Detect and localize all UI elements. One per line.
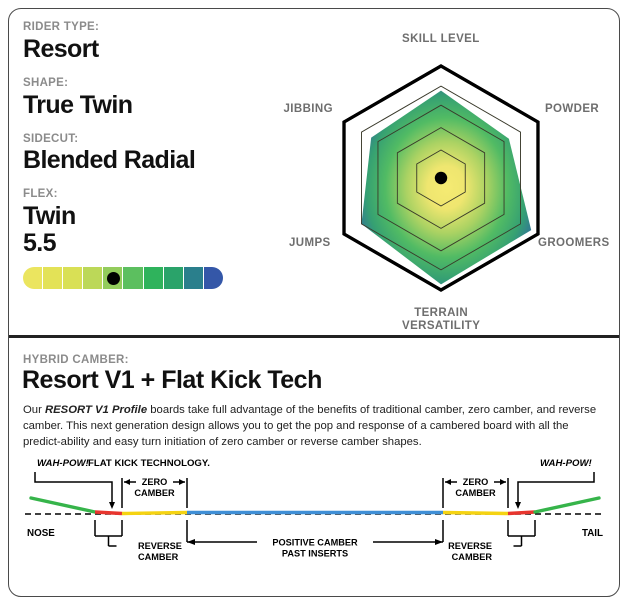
segment-reverse-camber-nose (95, 512, 122, 514)
radar-label-groomers: GROOMERS (538, 237, 610, 251)
positive-camber-arrow-right (435, 539, 443, 545)
reverse-camber-tail-label-line1: REVERSE (448, 541, 492, 551)
spec-shape: SHAPE: True Twin (23, 77, 273, 119)
flex-segment-10 (204, 267, 223, 289)
radar-label-skill-level: SKILL LEVEL (402, 33, 480, 47)
desc-emphasis: RESORT V1 Profile (45, 404, 147, 416)
radar-svg (281, 19, 611, 329)
radar-label-powder: POWDER (545, 103, 599, 117)
radar-data-polygon (361, 91, 531, 285)
spec-value-flex-rating: 5.5 (23, 230, 273, 257)
spec-value-flex-type: Twin (23, 203, 273, 230)
desc-pre: Our (23, 404, 45, 416)
spec-sidecut: SIDECUT: Blended Radial (23, 133, 273, 175)
flat-kick-technology-label: FLAT KICK TECHNOLOGY. (88, 458, 210, 469)
spec-label-rider-type: RIDER TYPE: (23, 21, 273, 35)
flex-marker-dot (107, 272, 120, 285)
wahpow-left-label: WAH-POW! (37, 458, 89, 469)
hybrid-camber-title: Resort V1 + Flat Kick Tech (22, 366, 322, 395)
positive-camber-label-line1: POSITIVE CAMBER (272, 538, 358, 548)
segment-zero-camber-nose (122, 513, 187, 514)
radar-label-jumps: JUMPS (289, 237, 331, 251)
segment-tail-kick (535, 498, 599, 512)
radar-center-dot (435, 172, 447, 184)
attribute-radar-chart: SKILL LEVELPOWDERGROOMERSTERRAINVERSATIL… (281, 19, 611, 329)
zero-camber-tail-arrow-right (500, 479, 506, 485)
zero-camber-tail-arrow-left (445, 479, 451, 485)
flex-segment-3 (63, 267, 83, 289)
flex-segment-7 (144, 267, 164, 289)
spec-flex: FLEX: Twin 5.5 (23, 188, 273, 289)
radar-label-jibbing: JIBBING (284, 103, 333, 117)
reverse-camber-tail-label-line2: CAMBER (452, 552, 493, 562)
hybrid-camber-description: Our RESORT V1 Profile boards take full a… (23, 402, 601, 450)
spec-value-shape: True Twin (23, 92, 273, 119)
reverse-camber-nose-label-line1: REVERSE (138, 541, 182, 551)
wahpow-left-arrowhead (109, 502, 115, 509)
spec-value-sidecut: Blended Radial (23, 147, 273, 174)
zero-camber-nose-arrow-right (179, 479, 185, 485)
segment-nose-kick (31, 498, 95, 512)
tail-label: TAIL (582, 528, 603, 539)
zero-camber-tail-label-line1: ZERO (463, 477, 489, 487)
spec-rider-type: RIDER TYPE: Resort (23, 21, 273, 63)
spec-label-shape: SHAPE: (23, 77, 273, 91)
wahpow-right-label: WAH-POW! (540, 458, 592, 469)
hybrid-camber-panel: HYBRID CAMBER: Resort V1 + Flat Kick Tec… (9, 338, 620, 597)
wahpow-left-leader (35, 472, 112, 502)
spec-value-rider-type: Resort (23, 36, 273, 63)
camber-profile-diagram: WAH-POW!FLAT KICK TECHNOLOGY.WAH-POW!ZER… (9, 456, 620, 586)
flex-rating-bar (23, 267, 223, 289)
flex-gradient-track (23, 267, 223, 289)
zero-camber-tail-label-line2: CAMBER (455, 488, 496, 498)
segment-zero-camber-tail (443, 513, 508, 514)
flex-segment-4 (83, 267, 103, 289)
spec-card: RIDER TYPE: Resort SHAPE: True Twin SIDE… (8, 8, 620, 597)
flex-segment-2 (43, 267, 63, 289)
zero-camber-nose-label-line1: ZERO (142, 477, 168, 487)
nose-label: NOSE (27, 528, 55, 539)
positive-camber-arrow-left (187, 539, 195, 545)
spec-label-flex: FLEX: (23, 188, 273, 202)
flex-segment-1 (23, 267, 43, 289)
zero-camber-nose-arrow-left (124, 479, 130, 485)
positive-camber-label-line2: PAST INSERTS (282, 549, 348, 559)
segment-reverse-camber-tail (508, 512, 535, 514)
flex-segment-9 (184, 267, 204, 289)
wahpow-right-leader (518, 472, 594, 502)
spec-list: RIDER TYPE: Resort SHAPE: True Twin SIDE… (23, 21, 273, 303)
wahpow-right-arrowhead (515, 502, 521, 509)
reverse-camber-nose-label-line2: CAMBER (138, 552, 179, 562)
camber-svg: WAH-POW!FLAT KICK TECHNOLOGY.WAH-POW!ZER… (9, 456, 620, 586)
zero-camber-nose-label-line2: CAMBER (134, 488, 175, 498)
radar-label-terrain-versatility: TERRAINVERSATILITY (402, 307, 480, 334)
spec-label-sidecut: SIDECUT: (23, 133, 273, 147)
flex-segment-8 (164, 267, 184, 289)
flex-segment-6 (123, 267, 143, 289)
hybrid-camber-label: HYBRID CAMBER: (23, 354, 129, 366)
